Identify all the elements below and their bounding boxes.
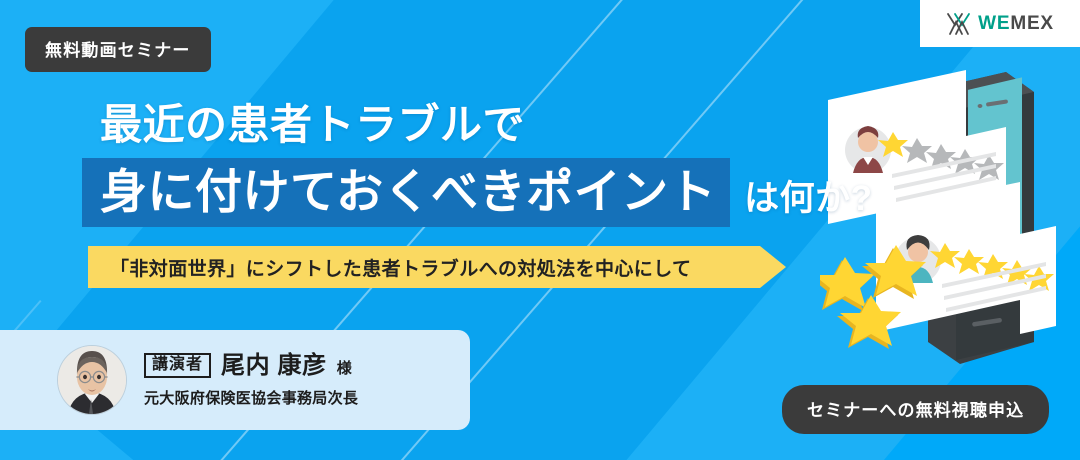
wemex-logo[interactable]: WEMEX [920, 0, 1080, 47]
subtitle-text: 「非対面世界」にシフトした患者トラブルへの対処法を中心にして [110, 254, 691, 281]
speaker-card: 講演者 尾内 康彦 様 元大阪府保険医協会事務局次長 [0, 330, 470, 430]
speaker-role-label: 講演者 [144, 353, 211, 378]
speaker-honorific: 様 [337, 361, 352, 378]
headline-line-1: 最近の患者トラブルで [0, 104, 872, 146]
subtitle-ribbon: 「非対面世界」にシフトした患者トラブルへの対処法を中心にして [88, 246, 786, 288]
seminar-promo-banner: WEMEX 無料動画セミナー 最近の患者トラブルで 身に付けておくべきポイント … [0, 0, 1080, 460]
seminar-signup-button[interactable]: セミナーへの無料視聴申込 [782, 385, 1049, 434]
speaker-name: 尾内 康彦 [221, 354, 327, 378]
seminar-type-badge: 無料動画セミナー [25, 27, 211, 72]
speaker-details: 講演者 尾内 康彦 様 元大阪府保険医協会事務局次長 [144, 353, 358, 408]
headline-tail: は何か? [730, 181, 872, 227]
logo-text-we: WE [978, 13, 1010, 34]
headline-block: 最近の患者トラブルで 身に付けておくべきポイント は何か? [0, 104, 872, 227]
speaker-job-title: 元大阪府保険医協会事務局次長 [144, 387, 358, 408]
logo-text-mex: MEX [1010, 13, 1054, 34]
speaker-portrait-icon [58, 346, 126, 414]
headline-highlight: 身に付けておくべきポイント [82, 158, 730, 227]
wemex-x-mark-icon [946, 12, 972, 36]
